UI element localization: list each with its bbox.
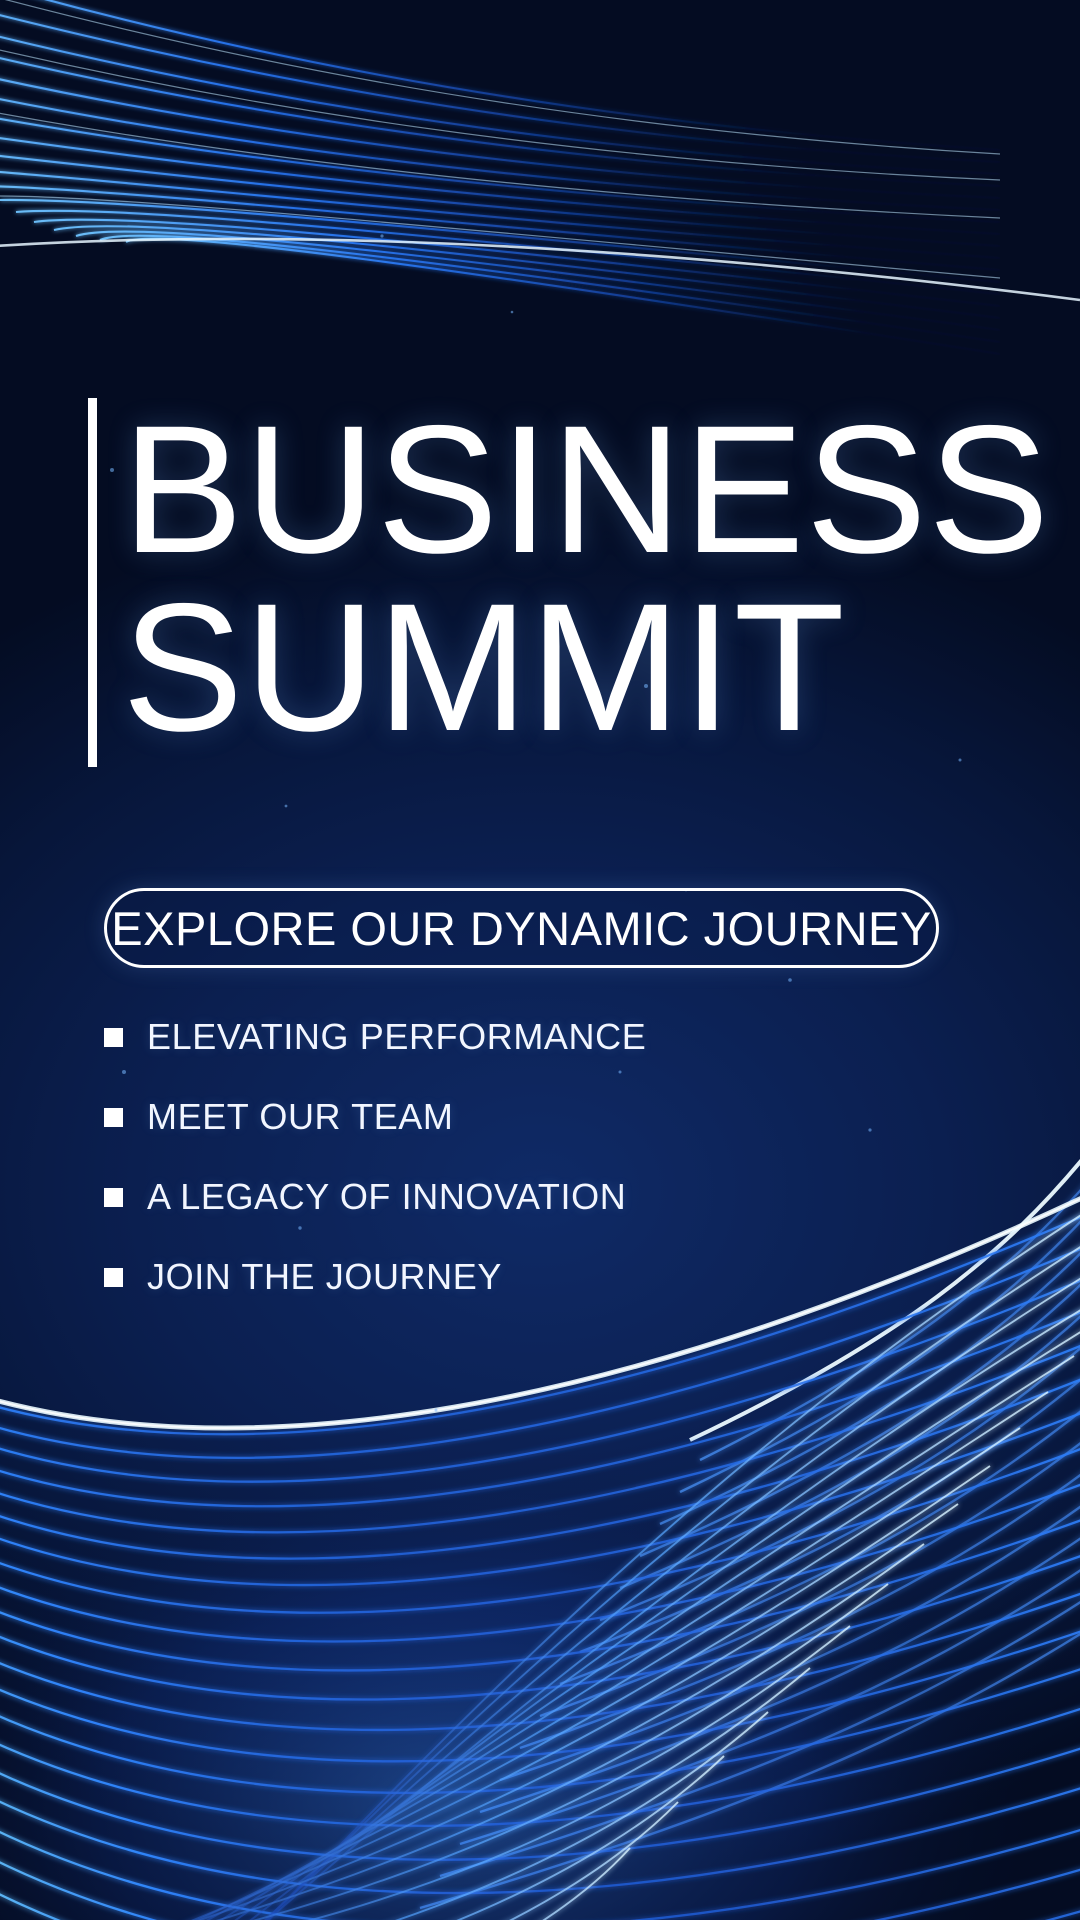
- title-text-group: BUSINESS SUMMIT: [122, 398, 1050, 767]
- square-bullet-icon: [104, 1268, 123, 1287]
- list-item[interactable]: MEET OUR TEAM: [104, 1098, 864, 1136]
- feature-label: ELEVATING PERFORMANCE: [147, 1016, 646, 1058]
- title-accent-rule: [88, 398, 97, 767]
- poster-canvas: BUSINESS SUMMIT EXPLORE OUR DYNAMIC JOUR…: [0, 0, 1080, 1920]
- list-item[interactable]: A LEGACY OF INNOVATION: [104, 1178, 864, 1216]
- feature-label: JOIN THE JOURNEY: [147, 1256, 502, 1298]
- feature-label: MEET OUR TEAM: [147, 1096, 454, 1138]
- explore-journey-button[interactable]: EXPLORE OUR DYNAMIC JOURNEY: [104, 888, 939, 968]
- feature-label: A LEGACY OF INNOVATION: [147, 1176, 626, 1218]
- explore-journey-label: EXPLORE OUR DYNAMIC JOURNEY: [111, 901, 931, 956]
- square-bullet-icon: [104, 1028, 123, 1047]
- list-item[interactable]: ELEVATING PERFORMANCE: [104, 1018, 864, 1056]
- square-bullet-icon: [104, 1108, 123, 1127]
- feature-list: ELEVATING PERFORMANCE MEET OUR TEAM A LE…: [104, 1018, 864, 1296]
- title-line-1: BUSINESS: [122, 400, 1050, 578]
- square-bullet-icon: [104, 1188, 123, 1207]
- page-title: BUSINESS SUMMIT: [88, 398, 1050, 767]
- list-item[interactable]: JOIN THE JOURNEY: [104, 1258, 864, 1296]
- title-line-2: SUMMIT: [122, 578, 1050, 756]
